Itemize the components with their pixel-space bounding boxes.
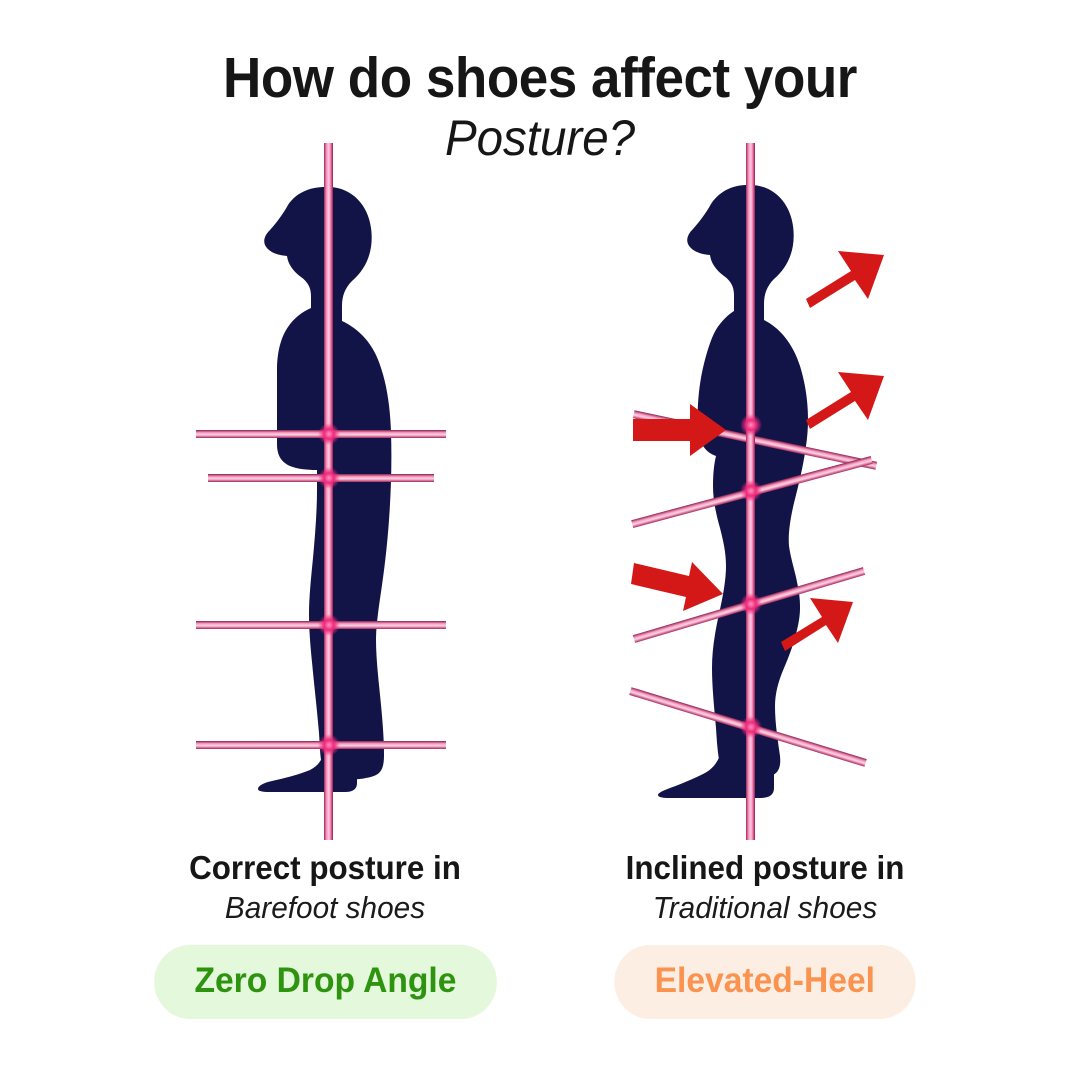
badge-zero-drop-angle[interactable]: Zero Drop Angle (154, 945, 497, 1019)
badge-elevated-heel[interactable]: Elevated-Heel (614, 945, 915, 1019)
node-hip (740, 414, 762, 436)
node-shoulder-hip (318, 423, 340, 445)
arrow-lower-back (806, 372, 884, 429)
caption-right-subtitle: Traditional shoes (544, 889, 986, 927)
caption-right-title: Inclined posture in (547, 848, 984, 888)
barefoot-posture-figure (196, 143, 446, 840)
node-knee (318, 614, 340, 636)
node-pelvis (318, 467, 340, 489)
barefoot-foot (258, 752, 357, 792)
caption-left-subtitle: Barefoot shoes (104, 889, 546, 927)
infographic-canvas: How do shoes affect your Posture? (0, 0, 1080, 1080)
figures-area (0, 0, 1080, 860)
traditional-posture-figure (629, 143, 884, 840)
posture-illustration (0, 0, 1080, 860)
arrow-upper-back (806, 251, 884, 308)
caption-left: Correct posture in Barefoot shoes Zero D… (95, 848, 555, 1019)
caption-left-title: Correct posture in (107, 848, 544, 888)
arrow-knee-front (631, 562, 723, 611)
node-pelvis (740, 480, 762, 502)
node-ankle (318, 734, 340, 756)
node-ankle (740, 716, 762, 738)
node-knee (740, 593, 762, 615)
caption-right: Inclined posture in Traditional shoes El… (535, 848, 995, 1019)
traditional-foot (658, 750, 774, 798)
